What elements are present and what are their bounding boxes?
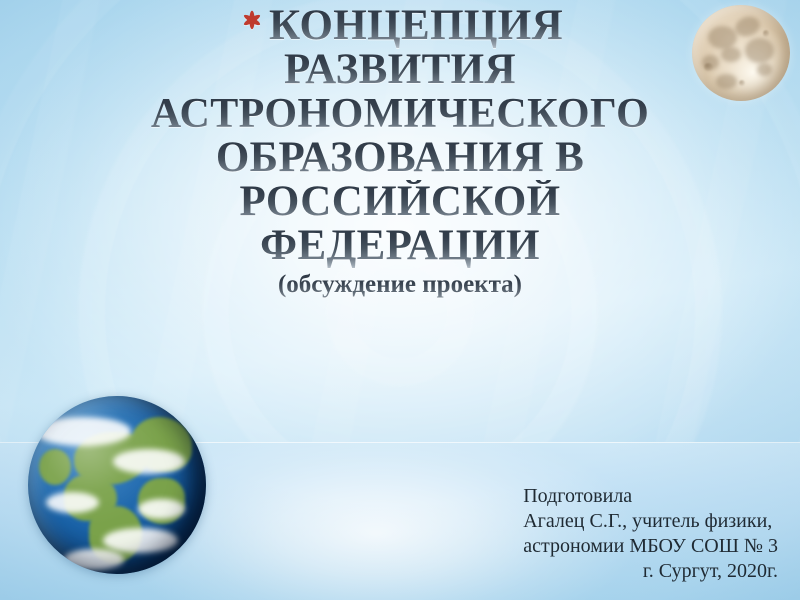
title-line-4: ОБРАЗОВАНИЯ В xyxy=(60,136,740,180)
asterisk-icon xyxy=(237,5,267,37)
author-block: Подготовила Агалец С.Г., учитель физики,… xyxy=(358,484,778,584)
title-line-6: ФЕДЕРАЦИИ xyxy=(60,224,740,268)
title-line-2: РАЗВИТИЯ xyxy=(60,48,740,92)
title-line-1-row: КОНЦЕПЦИЯ xyxy=(60,4,740,48)
author-line-4: г. Сургут, 2020г. xyxy=(523,559,778,584)
author-text-group: Подготовила Агалец С.Г., учитель физики,… xyxy=(523,484,778,584)
title-line-1: КОНЦЕПЦИЯ xyxy=(269,2,563,49)
slide-title-block: КОНЦЕПЦИЯ РАЗВИТИЯ АСТРОНОМИЧЕСКОГО ОБРА… xyxy=(60,4,740,299)
slide-subtitle: (обсуждение проекта) xyxy=(60,271,740,299)
author-line-2: Агалец С.Г., учитель физики, xyxy=(523,509,778,534)
presentation-slide: КОНЦЕПЦИЯ РАЗВИТИЯ АСТРОНОМИЧЕСКОГО ОБРА… xyxy=(0,0,800,600)
author-line-1: Подготовила xyxy=(523,484,778,509)
earth-globe-image xyxy=(28,396,206,574)
author-line-3: астрономии МБОУ СОШ № 3 xyxy=(523,534,778,559)
title-line-3: АСТРОНОМИЧЕСКОГО xyxy=(60,92,740,136)
title-line-5: РОССИЙСКОЙ xyxy=(60,180,740,224)
